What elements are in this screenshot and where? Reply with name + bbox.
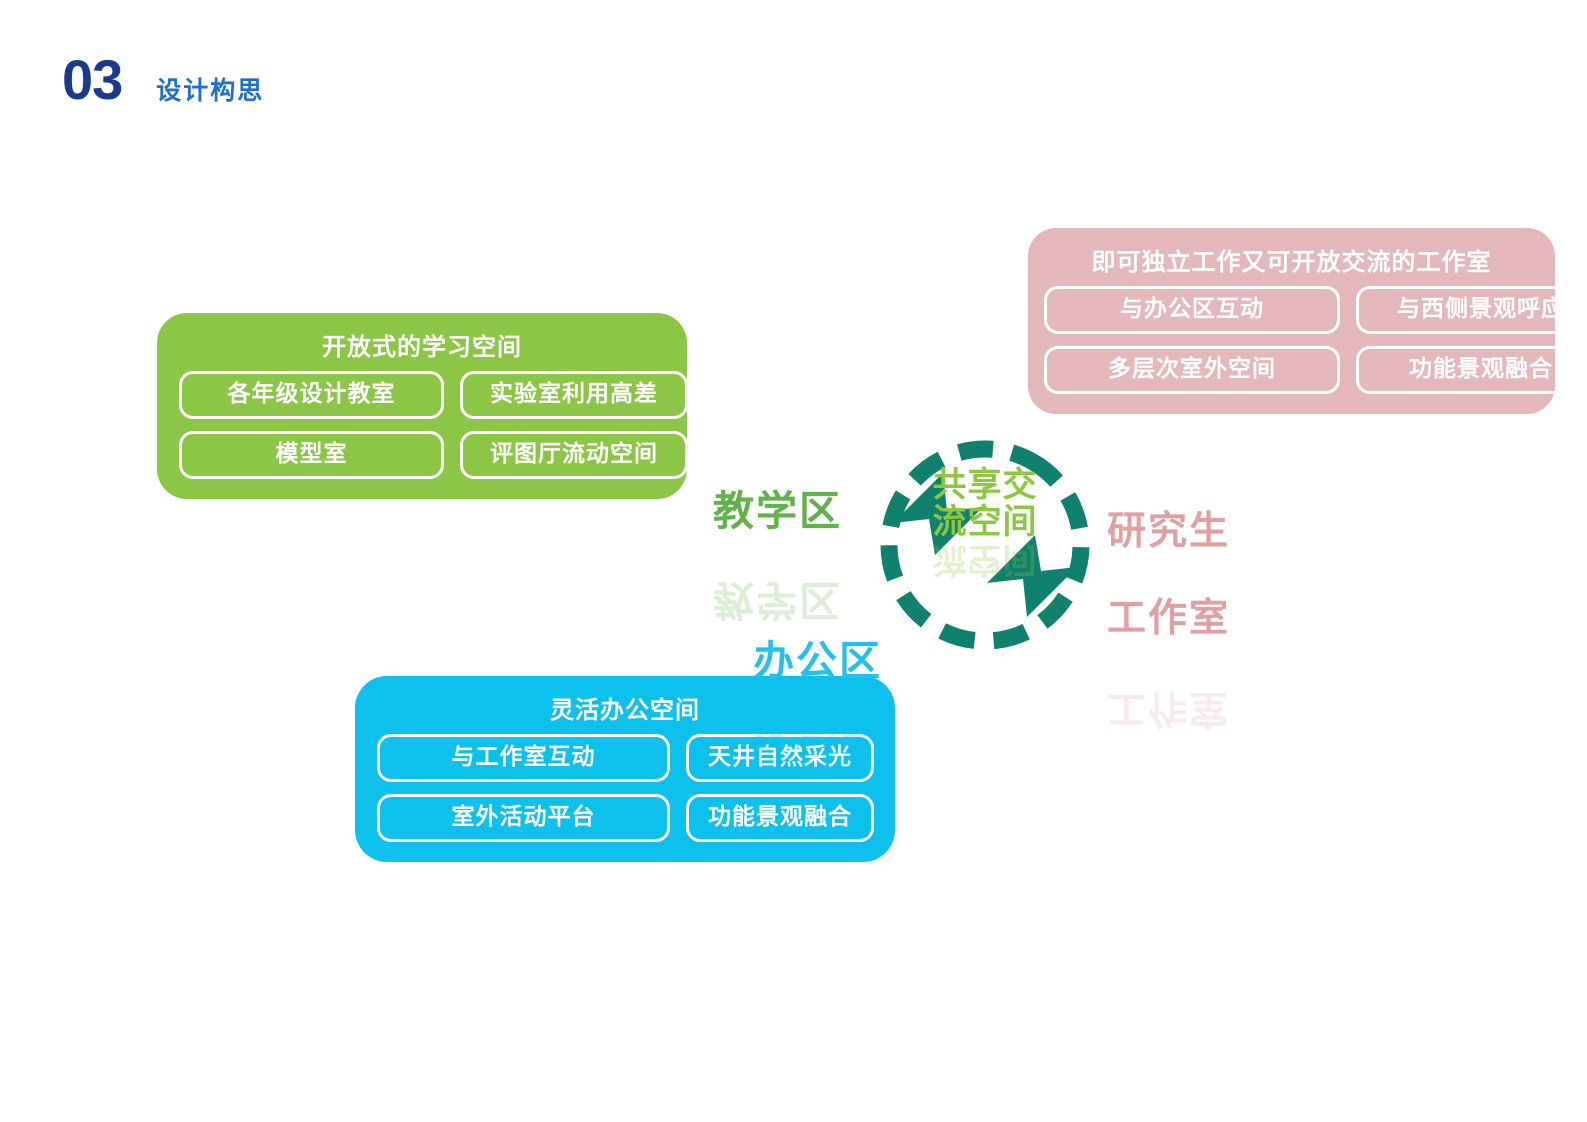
- arrow-up-icon: [893, 473, 983, 555]
- zone-label-studio-line2: 工作室: [1107, 597, 1230, 641]
- page-header: 03 设计构思: [62, 52, 264, 108]
- pill-item[interactable]: 室外活动平台: [377, 794, 670, 842]
- cycle-ring-icon: [855, 415, 1115, 675]
- pill-item[interactable]: 模型室: [179, 431, 444, 479]
- page-title: 设计构思: [156, 79, 264, 104]
- shared-space-cycle: 共享交 流空间 流空间: [855, 415, 1115, 675]
- card-teaching-zone[interactable]: 开放式的学习空间 各年级设计教室 实验室利用高差 模型室 评图厅流动空间: [157, 313, 687, 499]
- zone-label-office-reflection: 办公区: [753, 728, 882, 771]
- pill-item[interactable]: 功能景观融合: [1356, 346, 1587, 394]
- pill-item[interactable]: 与工作室互动: [377, 734, 670, 782]
- section-number: 03: [62, 52, 122, 108]
- pill-item[interactable]: 与办公区互动: [1044, 286, 1340, 334]
- pill-item[interactable]: 多层次室外空间: [1044, 346, 1340, 394]
- card-teaching-pill-grid: 各年级设计教室 实验室利用高差 模型室 评图厅流动空间: [179, 371, 665, 478]
- pill-item[interactable]: 各年级设计教室: [179, 371, 444, 419]
- card-teaching-title: 开放式的学习空间: [179, 335, 665, 361]
- zone-label-studio: 研究生 工作室 工作室: [1107, 466, 1230, 774]
- pill-item[interactable]: 与西侧景观呼应: [1356, 286, 1587, 334]
- zone-label-teaching-text: 教学区: [713, 490, 842, 533]
- card-studio-zone[interactable]: 即可独立工作又可开放交流的工作室 与办公区互动 与西侧景观呼应 多层次室外空间 …: [1028, 228, 1555, 414]
- zone-label-studio-line1: 研究生: [1107, 510, 1230, 554]
- zone-label-studio-reflection: 工作室: [1107, 686, 1230, 730]
- pill-item[interactable]: 评图厅流动空间: [460, 431, 688, 479]
- pill-item[interactable]: 实验室利用高差: [460, 371, 688, 419]
- card-studio-pill-grid: 与办公区互动 与西侧景观呼应 多层次室外空间 功能景观融合: [1028, 286, 1587, 393]
- card-studio-title: 即可独立工作又可开放交流的工作室: [1028, 250, 1555, 276]
